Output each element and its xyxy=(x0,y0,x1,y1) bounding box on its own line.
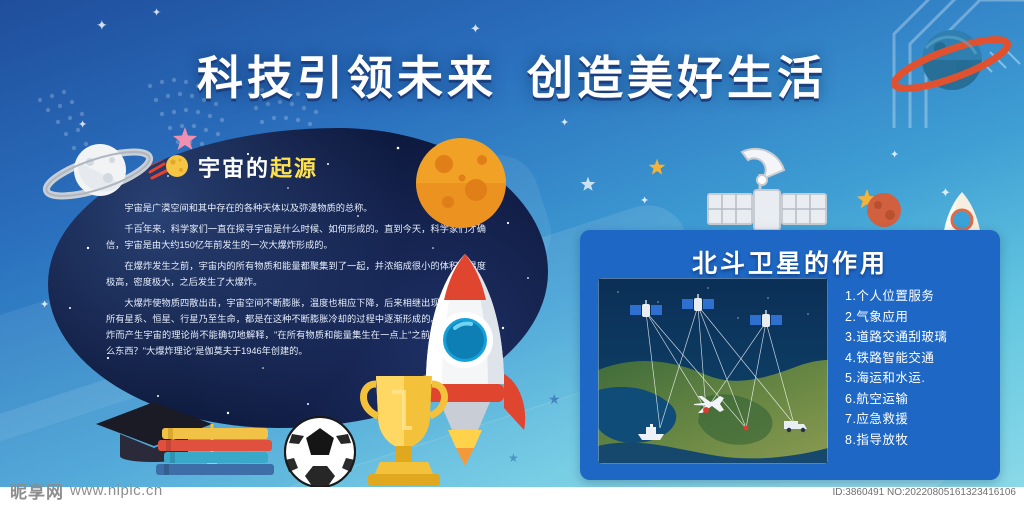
star-icon: ✦ xyxy=(96,18,108,32)
trophy-icon xyxy=(352,368,456,487)
list-item: 6.航空运输 xyxy=(845,389,1015,410)
star-icon: ★ xyxy=(548,392,561,406)
headline-left: 科技引领未来 xyxy=(197,52,497,104)
star-icon: ✦ xyxy=(470,22,481,35)
page-title: 科技引领未来创造美好生活 xyxy=(0,42,1024,108)
list-item: 5.海运和水运. xyxy=(845,368,1015,389)
watermark-url: www.nipic.cn xyxy=(70,482,163,499)
list-item: 7.应急救援 xyxy=(845,409,1015,430)
universe-panel-title-text: 宇宙的起源 xyxy=(198,151,318,183)
watermark: 昵享网 www.nipic.cn xyxy=(10,478,163,503)
star-icon: ✦ xyxy=(560,118,569,129)
image-id-text: ID:3860491 NO:20220805161323416106 xyxy=(833,487,1017,498)
list-item: 3.道路交通刮玻璃 xyxy=(845,327,1015,348)
beidou-function-list: 1.个人位置服务 2.气象应用 3.道路交通刮玻璃 4.铁路智能交通 5.海运和… xyxy=(845,286,1015,450)
poster-background: ✦ ✦ ✦ ✦ ✦ ✦ ✦ ✦ ✦ ★ ★ 科技引领未来创造美好生活 xyxy=(0,0,1024,487)
small-red-planet-icon xyxy=(862,188,906,232)
star-icon xyxy=(580,176,596,192)
universe-panel-title: 宇宙的起源 xyxy=(148,150,318,184)
watermark-cn: 昵享网 xyxy=(10,478,64,503)
list-item: 4.铁路智能交通 xyxy=(845,348,1015,369)
poster-canvas: ✦ ✦ ✦ ✦ ✦ ✦ ✦ ✦ ✦ ★ ★ 科技引领未来创造美好生活 xyxy=(0,0,1024,510)
list-item: 1.个人位置服务 xyxy=(845,286,1015,307)
star-icon: ✦ xyxy=(890,150,899,161)
headline-right: 创造美好生活 xyxy=(527,52,827,104)
stacked-books-icon xyxy=(152,426,282,482)
teal-ringed-planet-icon xyxy=(886,18,1016,104)
list-item: 8.指导放牧 xyxy=(845,430,1015,451)
star-icon: ✦ xyxy=(152,8,161,19)
football-icon xyxy=(282,414,358,487)
beidou-satellite-photo xyxy=(598,278,828,464)
orange-planet-icon xyxy=(404,128,518,238)
saturn-planet-icon xyxy=(38,128,158,218)
list-item: 2.气象应用 xyxy=(845,307,1015,328)
satellite-network-illustration xyxy=(598,278,828,464)
beidou-panel-title: 北斗卫星的作用 xyxy=(578,244,1002,280)
star-icon: ✦ xyxy=(640,196,649,207)
star-icon xyxy=(648,158,666,176)
